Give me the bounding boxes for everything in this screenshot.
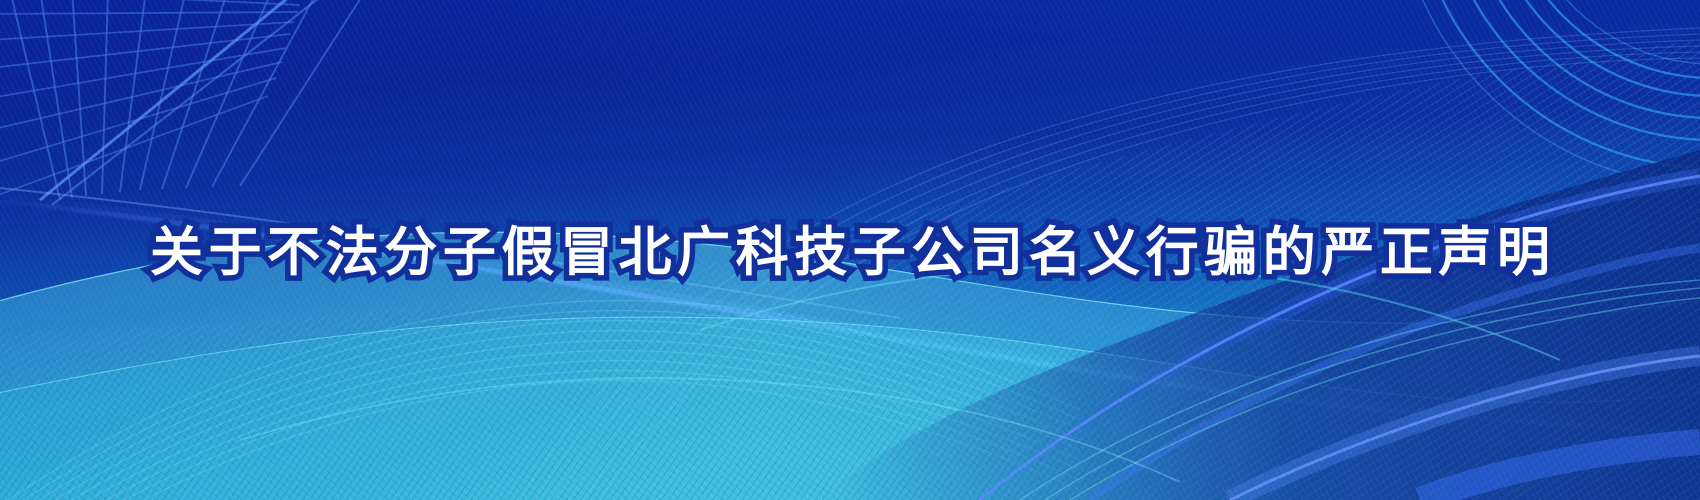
banner-title-container: 关于不法分子假冒北广科技子公司名义行骗的严正声明 — [0, 212, 1700, 292]
grid-mesh-decoration — [0, 0, 366, 205]
banner-title: 关于不法分子假冒北广科技子公司名义行骗的严正声明 — [144, 226, 1555, 279]
banner: 关于不法分子假冒北广科技子公司名义行骗的严正声明 — [0, 0, 1700, 500]
